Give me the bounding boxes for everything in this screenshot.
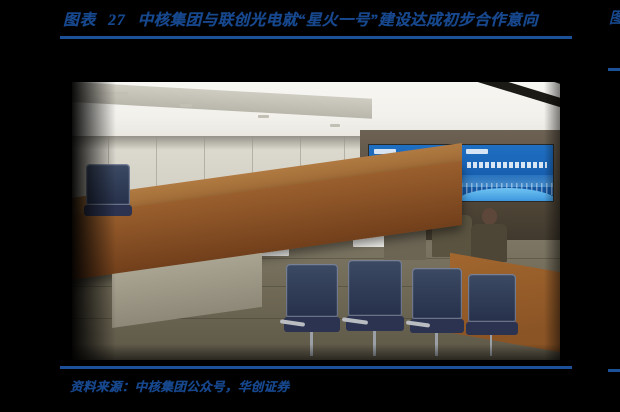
photo-vignette xyxy=(544,82,560,360)
next-column-rule xyxy=(608,369,620,372)
chair-seat xyxy=(466,322,518,335)
chair-backrest xyxy=(286,264,338,317)
next-column-rule xyxy=(608,68,620,71)
title-divider-rule xyxy=(60,36,572,39)
ceiling-light xyxy=(180,104,192,107)
chair-backrest xyxy=(348,260,402,316)
figure-number: 27 xyxy=(108,12,126,29)
ceiling-light xyxy=(330,124,340,127)
chair-backrest xyxy=(468,274,516,322)
chair-backrest xyxy=(412,268,462,319)
ceiling-slab xyxy=(72,82,372,119)
meeting-room-photo xyxy=(72,82,560,360)
office-chair xyxy=(286,264,338,356)
attendee-body xyxy=(471,224,507,262)
figure-label: 图表 xyxy=(63,12,96,29)
figure-image xyxy=(72,82,560,360)
photo-vignette xyxy=(72,344,560,360)
figure-footer: 资料来源：中核集团公众号，华创证券 xyxy=(60,366,572,397)
page-root: 图表27中核集团与联创光电就“星火一号”建设达成初步合作意向 xyxy=(0,0,620,412)
figure-title-text: 中核集团与联创光电就“星火一号”建设达成初步合作意向 xyxy=(138,12,539,29)
figure-title: 图表27中核集团与联创光电就“星火一号”建设达成初步合作意向 xyxy=(60,8,572,34)
screen-banner-text xyxy=(467,162,547,168)
source-note: 资料来源：中核集团公众号，华创证券 xyxy=(60,369,572,397)
office-chair xyxy=(348,260,402,356)
next-column-title: 图表 xyxy=(609,6,620,32)
office-chair xyxy=(412,268,462,356)
ceiling-light xyxy=(258,115,269,118)
screen-logo xyxy=(466,149,488,154)
presentation-screen-right xyxy=(460,144,554,202)
next-column-clipped: 图表 xyxy=(608,0,620,412)
figure-header: 图表27中核集团与联创光电就“星火一号”建设达成初步合作意向 xyxy=(60,8,572,39)
photo-vignette xyxy=(72,82,116,360)
ceiling-beam xyxy=(397,82,560,119)
attendee-head xyxy=(482,208,497,225)
